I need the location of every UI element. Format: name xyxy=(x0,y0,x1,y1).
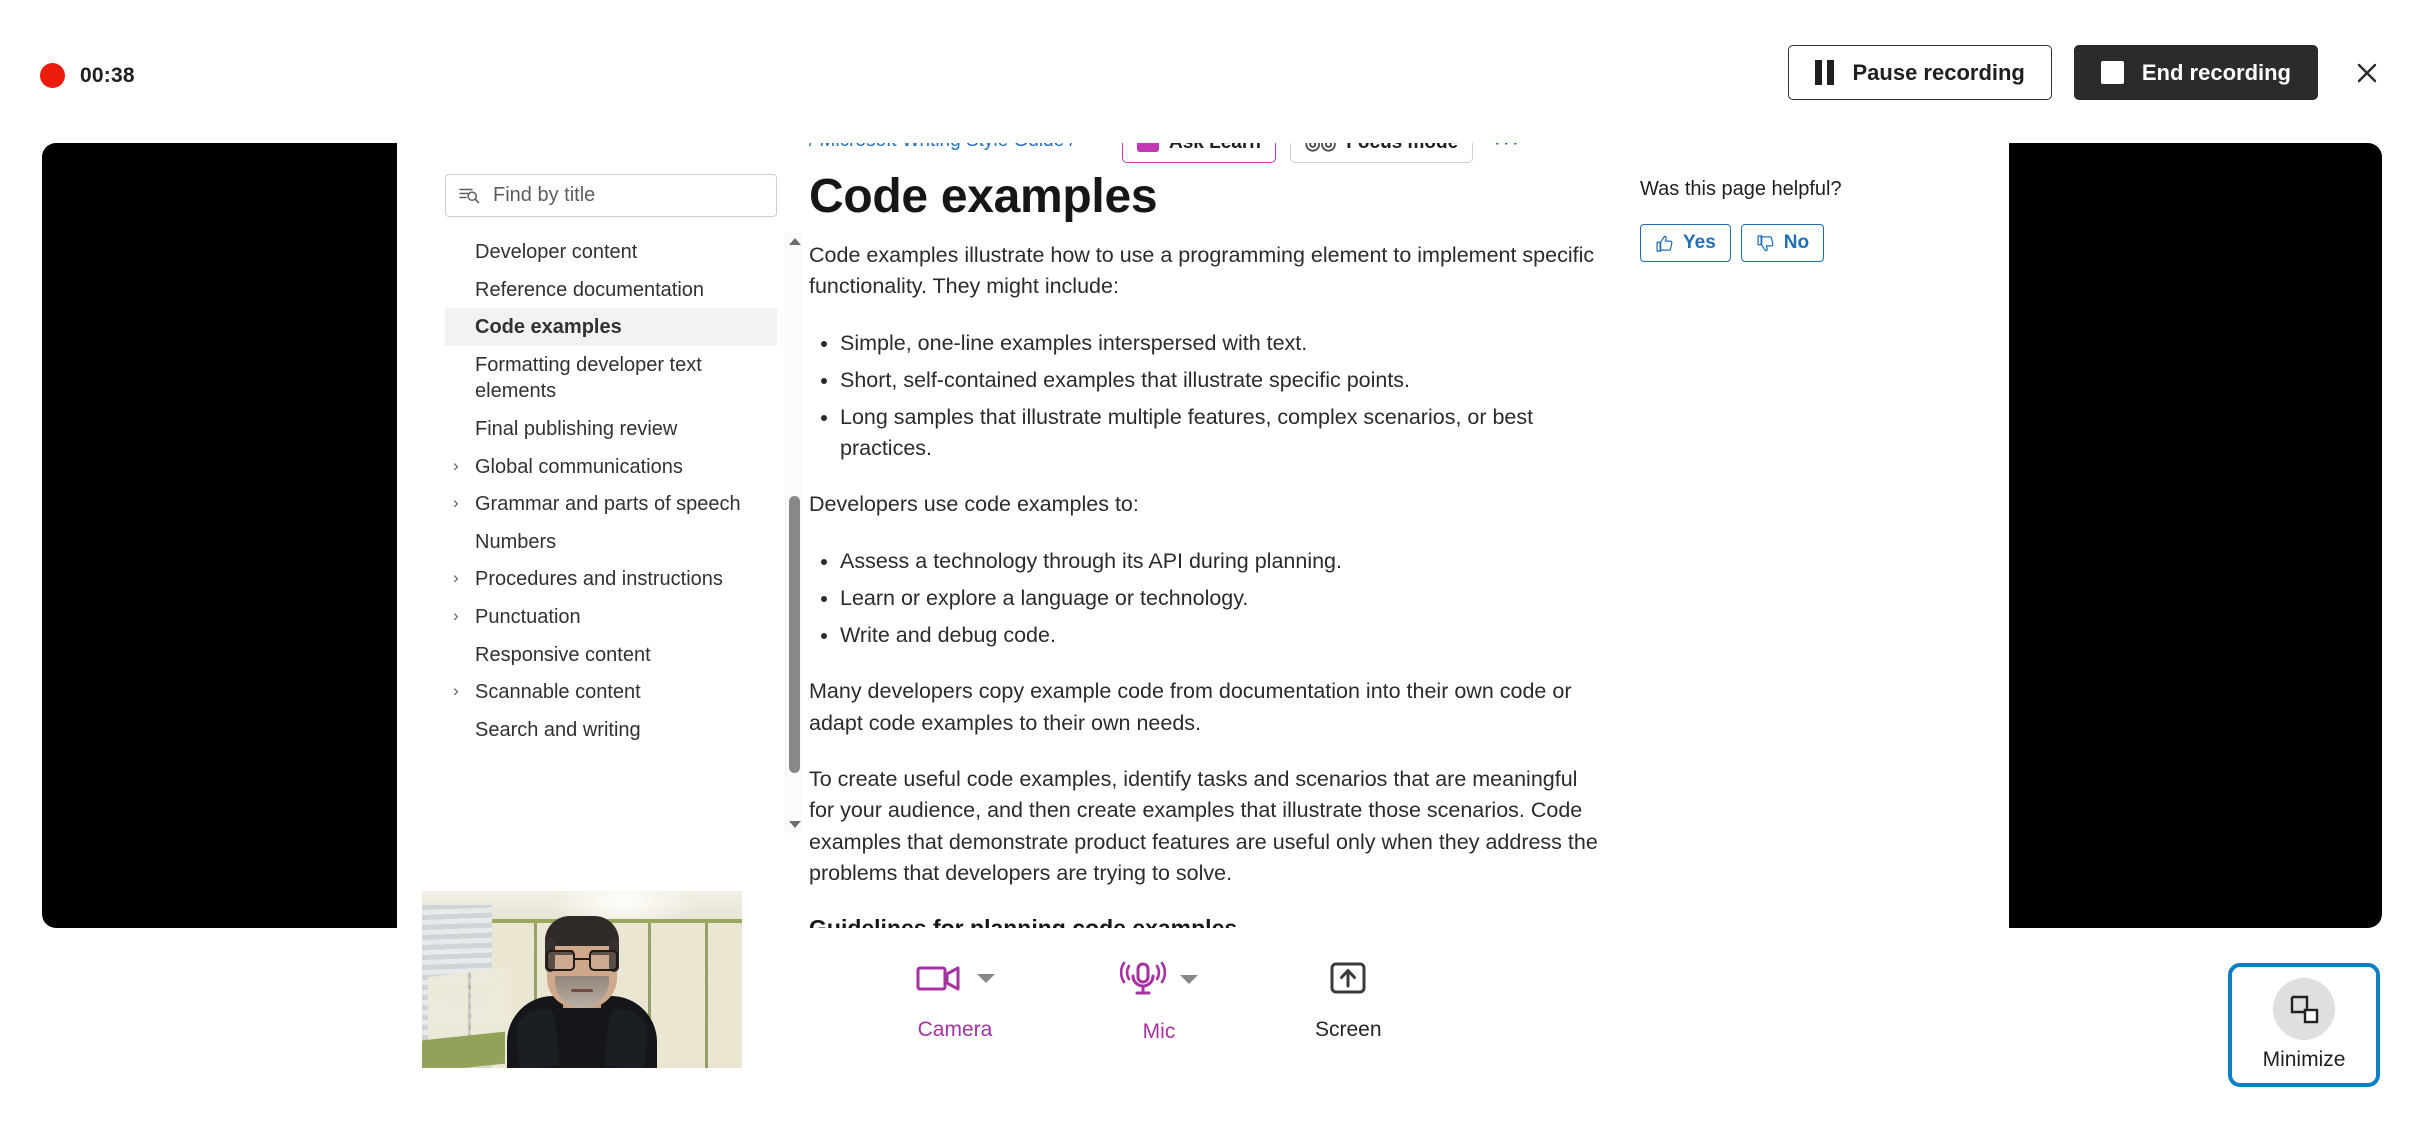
toc-item-label: Reference documentation xyxy=(475,276,704,304)
pause-icon xyxy=(1815,60,1834,85)
toc-scrollbar[interactable] xyxy=(785,233,802,833)
ask-learn-button[interactable]: Ask Learn xyxy=(1122,143,1276,163)
article-column: / Microsoft Writing Style Guide / Ask Le… xyxy=(809,143,1599,928)
page-title: Code examples xyxy=(809,169,1157,224)
feedback-no-button[interactable]: No xyxy=(1741,224,1824,262)
mic-control[interactable]: Mic xyxy=(1120,960,1198,1044)
toc-search-input[interactable]: Find by title xyxy=(445,174,777,217)
minimize-windows-icon xyxy=(2287,992,2321,1026)
list-item: Write and debug code. xyxy=(840,620,1599,651)
toc-search-placeholder: Find by title xyxy=(493,184,595,207)
article-list-two: Assess a technology through its API duri… xyxy=(809,546,1599,652)
toc-item[interactable]: Search and writing xyxy=(445,711,777,749)
toc-item-label: Responsive content xyxy=(475,641,651,669)
toc-item-label: Developer content xyxy=(475,238,637,266)
toc-item[interactable]: Formatting developer text elements xyxy=(445,346,777,410)
toc-item[interactable]: ›Global communications xyxy=(445,448,777,486)
toc-item[interactable]: ›Scannable content xyxy=(445,673,777,711)
list-item: Short, self-contained examples that illu… xyxy=(840,365,1599,396)
toc-item[interactable]: Code examples xyxy=(445,308,777,346)
device-toolbar: Camera Mic Scree xyxy=(0,960,2424,1090)
pause-recording-label: Pause recording xyxy=(1852,60,2024,86)
stop-square-icon xyxy=(2101,61,2124,84)
screen-label: Screen xyxy=(1315,1018,1382,1042)
toc-item[interactable]: Final publishing review xyxy=(445,410,777,448)
toc-item-label: Procedures and instructions xyxy=(475,565,723,593)
letterbox-left xyxy=(42,143,397,928)
toc-item-label: Grammar and parts of speech xyxy=(475,490,741,518)
letterbox-right xyxy=(2009,143,2382,928)
chevron-right-icon[interactable]: › xyxy=(453,453,467,479)
close-icon xyxy=(2352,58,2382,88)
toc-item-label: Final publishing review xyxy=(475,415,677,443)
toc-item[interactable]: ›Procedures and instructions xyxy=(445,560,777,598)
chevron-right-icon[interactable]: › xyxy=(453,678,467,704)
list-item: Simple, one-line examples interspersed w… xyxy=(840,328,1599,359)
camera-options-caret-icon[interactable] xyxy=(977,974,995,983)
toc-item[interactable]: Reference documentation xyxy=(445,271,777,309)
camera-label: Camera xyxy=(918,1018,993,1042)
shared-screen-stage: Find by title Developer contentReference… xyxy=(0,143,2424,928)
mic-label: Mic xyxy=(1143,1020,1176,1044)
camera-control[interactable]: Camera xyxy=(915,960,995,1042)
pause-recording-button[interactable]: Pause recording xyxy=(1788,45,2051,100)
toc-item[interactable]: Numbers xyxy=(445,523,777,561)
focus-mode-button[interactable]: ◎◎ Focus mode xyxy=(1290,143,1473,163)
list-item: Learn or explore a language or technolog… xyxy=(840,583,1599,614)
minimize-label: Minimize xyxy=(2263,1048,2346,1072)
focus-mode-icon: ◎◎ xyxy=(1305,143,1336,154)
minimize-icon-background xyxy=(2273,978,2335,1040)
article-lead-two: Developers use code examples to: xyxy=(809,489,1599,520)
thumbs-down-icon xyxy=(1756,234,1775,253)
toc-item[interactable]: ›Punctuation xyxy=(445,598,777,636)
article-list-one: Simple, one-line examples interspersed w… xyxy=(809,328,1599,465)
end-recording-label: End recording xyxy=(2142,60,2291,86)
end-recording-button[interactable]: End recording xyxy=(2074,45,2318,100)
microphone-icon xyxy=(1120,960,1166,998)
toc-scroll-up-button[interactable] xyxy=(786,233,803,250)
sparkle-icon xyxy=(1137,143,1159,152)
thumbs-up-icon xyxy=(1655,234,1674,253)
recorder-controls: Pause recording End recording xyxy=(1788,45,2394,100)
toc-item-label: Search and writing xyxy=(475,716,641,744)
chevron-right-icon[interactable]: › xyxy=(453,490,467,516)
article-body: Code examples illustrate how to use a pr… xyxy=(809,240,1599,928)
screen-share-icon xyxy=(1328,960,1368,996)
feedback-yes-label: Yes xyxy=(1683,232,1716,254)
toc-list[interactable]: Developer contentReference documentation… xyxy=(445,233,777,833)
toc-item[interactable]: ›Grammar and parts of speech xyxy=(445,485,777,523)
shared-browser-page: Find by title Developer contentReference… xyxy=(397,143,2009,928)
toc-item-label: Formatting developer text elements xyxy=(475,351,767,405)
list-search-icon xyxy=(459,186,480,205)
article-para-three: Many developers copy example code from d… xyxy=(809,676,1599,739)
toc-item[interactable]: Developer content xyxy=(445,233,777,271)
focus-mode-label: Focus mode xyxy=(1346,143,1458,154)
ask-learn-label: Ask Learn xyxy=(1169,143,1261,154)
close-button[interactable] xyxy=(2340,46,2394,100)
list-item: Assess a technology through its API duri… xyxy=(840,546,1599,577)
feedback-question: Was this page helpful? xyxy=(1640,178,1940,201)
video-camera-icon xyxy=(915,960,963,996)
minimize-button[interactable]: Minimize xyxy=(2228,963,2380,1087)
recording-indicator: 00:38 xyxy=(40,63,135,88)
toc-item-label: Code examples xyxy=(475,313,622,341)
feedback-no-label: No xyxy=(1784,232,1809,254)
article-para-four: To create useful code examples, identify… xyxy=(809,764,1599,890)
feedback-buttons: Yes No xyxy=(1640,224,1940,262)
toc-scroll-thumb[interactable] xyxy=(789,496,800,773)
toc-item-label: Numbers xyxy=(475,528,556,556)
recorder-overlay-app: 00:38 Pause recording End recording xyxy=(0,0,2424,1133)
toc-item[interactable]: Responsive content xyxy=(445,636,777,674)
chevron-right-icon[interactable]: › xyxy=(453,603,467,629)
mic-options-caret-icon[interactable] xyxy=(1180,975,1198,984)
toc-item-label: Scannable content xyxy=(475,678,641,706)
docs-toc: Find by title Developer contentReference… xyxy=(445,143,785,928)
recording-dot-icon xyxy=(40,63,65,88)
toc-scroll-down-button[interactable] xyxy=(786,816,803,833)
recording-timer: 00:38 xyxy=(80,64,135,88)
page-feedback: Was this page helpful? Yes No xyxy=(1640,178,1940,262)
article-toolbar: Ask Learn ◎◎ Focus mode ··· xyxy=(1122,143,1526,163)
feedback-yes-button[interactable]: Yes xyxy=(1640,224,1731,262)
breadcrumb[interactable]: / Microsoft Writing Style Guide / xyxy=(809,143,1075,152)
screen-control[interactable]: Screen xyxy=(1315,960,1382,1042)
list-item: Long samples that illustrate multiple fe… xyxy=(840,402,1599,464)
article-subheading: Guidelines for planning code examples xyxy=(809,915,1599,928)
toc-item-label: Punctuation xyxy=(475,603,581,631)
toc-item-label: Global communications xyxy=(475,453,683,481)
more-options-button[interactable]: ··· xyxy=(1487,143,1526,157)
article-intro: Code examples illustrate how to use a pr… xyxy=(809,240,1599,303)
chevron-right-icon[interactable]: › xyxy=(453,565,467,591)
